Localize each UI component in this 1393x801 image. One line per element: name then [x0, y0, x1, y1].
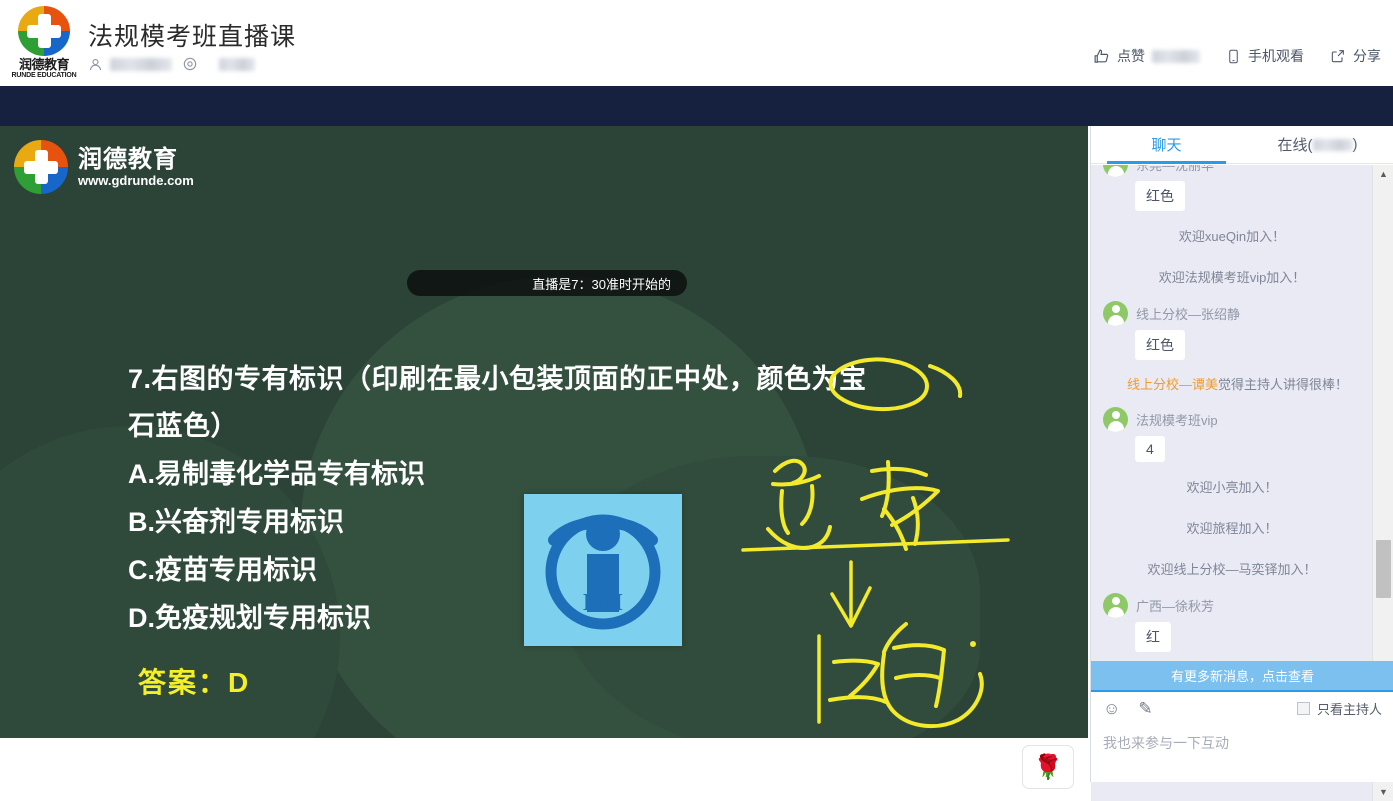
chat-tabs: 聊天 在线( ): [1091, 126, 1393, 164]
question-line-1: 7.右图的专有标识（印刷在最小包装顶面的正中处，颜色为宝: [128, 356, 978, 403]
rose-gift-icon: 🌹: [1033, 753, 1063, 782]
list-item: 广西—徐秋芳 红: [1091, 589, 1373, 656]
tab-online-label: 在线(: [1278, 134, 1313, 155]
list-item: 欢迎线上分校—马奕铎加入！: [1091, 548, 1373, 589]
scrollbar-thumb[interactable]: [1376, 540, 1391, 598]
thumbs-up-icon: [1093, 48, 1110, 65]
share-icon: [1330, 48, 1346, 64]
only-host-toggle[interactable]: 只看主持人: [1297, 699, 1382, 718]
gift-rose-button[interactable]: 🌹: [1022, 745, 1074, 789]
list-item: 欢迎旅程加入！: [1091, 507, 1373, 548]
page-title: 法规模考班直播课: [88, 17, 296, 53]
tab-online[interactable]: 在线( ): [1242, 126, 1393, 163]
share-label: 分享: [1353, 46, 1381, 66]
eye-icon: [182, 56, 198, 72]
message-author: 广西—徐秋芳: [1136, 596, 1214, 615]
viewer-count: [182, 56, 255, 72]
presenter-name: [88, 57, 172, 72]
scroll-up-arrow-icon[interactable]: ▲: [1373, 165, 1393, 183]
share-button[interactable]: 分享: [1330, 46, 1381, 66]
chat-toolbar: ☺ ✎ 只看主持人: [1091, 690, 1393, 725]
list-item: 欢迎xueQin加入！: [1091, 215, 1373, 256]
mobile-watch-label: 手机观看: [1248, 46, 1304, 66]
slide-watermark-logo: 润德教育 www.gdrunde.com: [14, 140, 194, 194]
answer-text: 答案：D: [138, 661, 250, 701]
live-video-stage[interactable]: 润德教育 www.gdrunde.com 直播是7：30准时开始的 7.右图的专…: [0, 126, 1088, 738]
epi-figure-icon: EPI: [524, 494, 682, 646]
message-text: 红: [1135, 622, 1171, 652]
svg-text:EPI: EPI: [583, 590, 623, 616]
mobile-watch-button[interactable]: 手机观看: [1226, 46, 1304, 66]
message-author: 线上分校—张绍静: [1136, 304, 1240, 323]
pencil-icon[interactable]: ✎: [1138, 700, 1152, 717]
header-actions: 点赞 手机观看 分享: [1093, 46, 1381, 66]
like-label: 点赞: [1117, 46, 1145, 66]
message-author: 法规模考班vip: [1136, 410, 1218, 429]
epi-vaccine-logo: EPI: [524, 494, 682, 646]
tab-online-suffix: ): [1353, 136, 1358, 153]
message-text: 4: [1135, 436, 1165, 462]
list-item: 东莞—沈丽华 红色: [1091, 165, 1373, 215]
avatar: [1103, 301, 1128, 326]
page-header: 润德教育 RUNDE EDUCATION 法规模考班直播课 点赞: [0, 0, 1393, 86]
navy-divider-bar: [0, 86, 1393, 126]
list-item: 线上分校—谭美觉得主持人讲得很棒！: [1091, 364, 1373, 403]
like-count-blurred: [1152, 50, 1200, 63]
avatar: [1103, 593, 1128, 618]
list-item: 线上分校—张绍静 红色: [1091, 297, 1373, 364]
only-host-label: 只看主持人: [1317, 699, 1382, 718]
only-host-checkbox[interactable]: [1297, 702, 1310, 715]
brand-name-cn: 润德教育: [19, 58, 69, 71]
list-item: 欢迎小亮加入！: [1091, 466, 1373, 507]
user-icon: [88, 57, 103, 72]
slide-logo-url: www.gdrunde.com: [78, 173, 194, 188]
brand-logo[interactable]: 润德教育 RUNDE EDUCATION: [8, 6, 80, 80]
new-messages-label: 有更多新消息，点击查看: [1171, 666, 1314, 685]
brand-name-en: RUNDE EDUCATION: [12, 71, 77, 80]
tab-chat[interactable]: 聊天: [1091, 126, 1242, 163]
avatar: [1103, 165, 1128, 177]
avatar: [1103, 407, 1128, 432]
option-a: A.易制毒化学品专有标识: [128, 451, 978, 498]
slide-logo-name: 润德教育: [78, 147, 194, 173]
viewer-count-blurred: [219, 58, 255, 71]
pinwheel-icon: [18, 6, 70, 56]
new-messages-banner[interactable]: 有更多新消息，点击查看: [1091, 661, 1393, 690]
pinwheel-icon: [14, 140, 68, 194]
praise-text: 觉得主持人讲得很棒！: [1218, 377, 1348, 392]
mobile-phone-icon: [1226, 48, 1241, 65]
live-notice-banner: 直播是7：30准时开始的: [407, 270, 687, 296]
message-text: 红色: [1135, 181, 1185, 211]
header-meta: [88, 56, 255, 72]
list-item: 欢迎法规模考班vip加入！: [1091, 256, 1373, 297]
online-count-blurred: [1313, 139, 1353, 151]
chat-input[interactable]: [1091, 725, 1393, 782]
message-text: 红色: [1135, 330, 1185, 360]
live-notice-text: 直播是7：30准时开始的: [532, 274, 671, 293]
praise-author: 线上分校—谭美: [1127, 377, 1218, 392]
list-item: 法规模考班vip 4: [1091, 403, 1373, 466]
emoji-icon[interactable]: ☺: [1103, 700, 1120, 717]
stage-bottom-strip: [0, 738, 1088, 782]
question-line-2: 石蓝色）: [128, 403, 978, 450]
presenter-name-blurred: [110, 58, 172, 71]
chat-panel: 聊天 在线( ) 东莞—沈丽华 红色 欢迎xueQin加入！ 欢迎法规模考班vi…: [1090, 126, 1393, 782]
like-button[interactable]: 点赞: [1093, 46, 1200, 66]
scroll-down-arrow-icon[interactable]: ▼: [1373, 783, 1393, 801]
tab-chat-label: 聊天: [1151, 134, 1181, 155]
message-author: 东莞—沈丽华: [1136, 165, 1214, 174]
